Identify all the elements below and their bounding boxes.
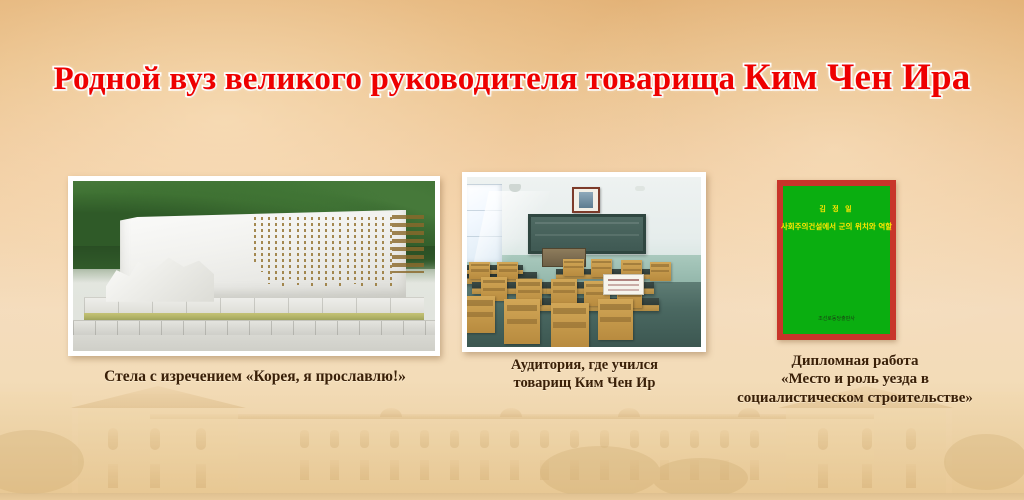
paved-ground [73, 334, 435, 351]
classroom-caption-line2: товарищ Ким Чен Ир [462, 375, 707, 393]
book-caption-line3: социалистическом строительстве» [700, 389, 1010, 407]
book-cover-face: 김 정 일 사회주의건설에서 군의 위치와 역할 조선로동당출판사 [783, 186, 890, 334]
stela-photo-inner [73, 181, 435, 351]
desk-name-plate [603, 274, 645, 295]
book-caption: Дипломная работа «Место и роль уезда в с… [700, 352, 1010, 407]
book-caption-line1: Дипломная работа [700, 352, 1010, 370]
page-title-main: Родной вуз великого руководителя товарищ… [53, 61, 743, 97]
stela-caption-line1: Стела с изречением «Корея, я прославлю!» [50, 368, 460, 387]
stela-caption: Стела с изречением «Корея, я прославлю!» [50, 368, 460, 387]
calligraphy-signature [392, 215, 425, 273]
slide-canvas: Родной вуз великого руководителя товарищ… [0, 0, 1024, 500]
classroom-caption: Аудитория, где учился товарищ Ким Чен Ир [462, 357, 707, 392]
page-title-text: Родной вуз великого руководителя товарищ… [53, 56, 970, 99]
chair [598, 299, 633, 340]
chair [563, 259, 584, 276]
page-title: Родной вуз великого руководителя товарищ… [0, 56, 1024, 99]
classroom-photo-inner [467, 177, 701, 347]
bottom-strip [0, 493, 1024, 500]
chair [467, 296, 495, 333]
book-title-text: 사회주의건설에서 군의 위치와 역할 [781, 222, 892, 231]
classroom-caption-line1: Аудитория, где учился [462, 357, 707, 375]
book-publisher-text: 조선로동당출판사 [783, 315, 890, 322]
chair [504, 299, 539, 343]
book-author-text: 김 정 일 [819, 204, 853, 214]
speaker-secondary-icon [635, 186, 644, 191]
chair [551, 279, 577, 305]
chair [551, 303, 588, 347]
framed-portrait [572, 187, 599, 213]
classroom-photo[interactable] [462, 172, 706, 352]
page-title-emphasis: Ким Чен Ира [744, 57, 971, 98]
book-caption-line2: «Место и роль уезда в [700, 370, 1010, 388]
book-photo[interactable]: 김 정 일 사회주의건설에서 군의 위치와 역할 조선로동당출판사 [777, 180, 896, 340]
korean-inscription [145, 217, 391, 292]
stela-lower-base [73, 320, 435, 335]
chair [650, 262, 671, 281]
grass-strip [84, 312, 424, 321]
stela-photo[interactable] [68, 176, 440, 356]
